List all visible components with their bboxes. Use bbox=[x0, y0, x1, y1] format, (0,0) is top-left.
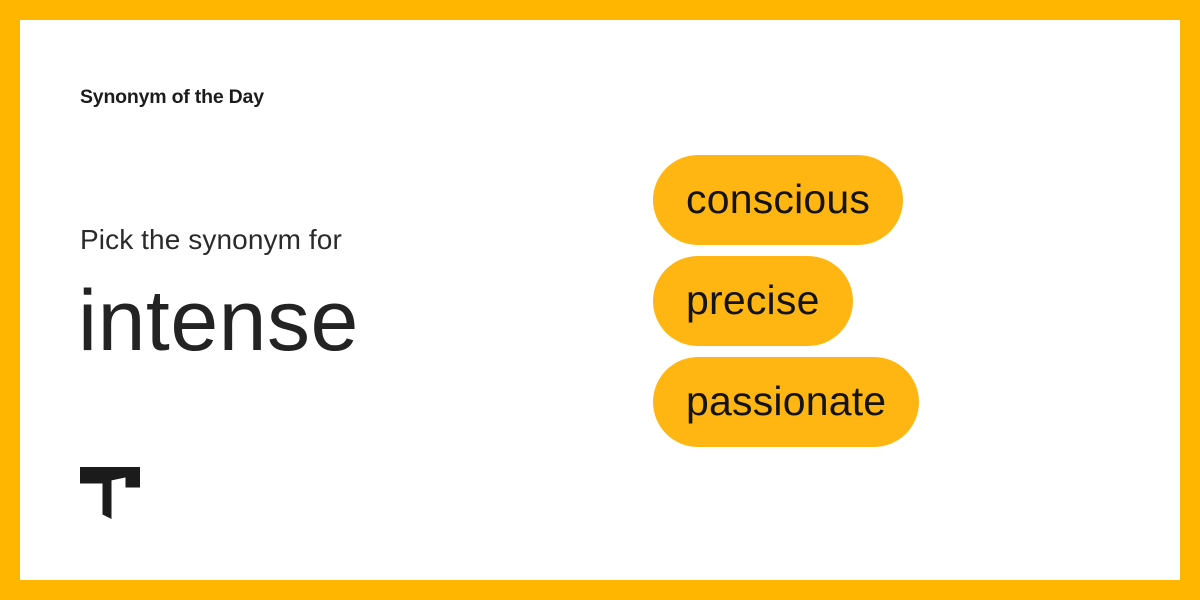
choice-label: conscious bbox=[686, 179, 870, 220]
choice-label: precise bbox=[686, 280, 820, 321]
answer-choices-list: conscious precise passionate bbox=[653, 155, 919, 447]
prompt-label: Pick the synonym for bbox=[80, 224, 342, 256]
card-left-column: Synonym of the Day Pick the synonym for … bbox=[80, 20, 620, 580]
card-kicker: Synonym of the Day bbox=[80, 86, 264, 109]
choice-pill-passionate[interactable]: passionate bbox=[653, 357, 919, 447]
amber-border-frame: Synonym of the Day Pick the synonym for … bbox=[0, 0, 1200, 600]
thesaurus-t-logo-icon bbox=[80, 467, 140, 519]
choice-label: passionate bbox=[686, 381, 886, 422]
headword: intense bbox=[78, 278, 359, 364]
synonym-of-the-day-card: Synonym of the Day Pick the synonym for … bbox=[20, 20, 1180, 580]
choice-pill-precise[interactable]: precise bbox=[653, 256, 853, 346]
choice-pill-conscious[interactable]: conscious bbox=[653, 155, 903, 245]
